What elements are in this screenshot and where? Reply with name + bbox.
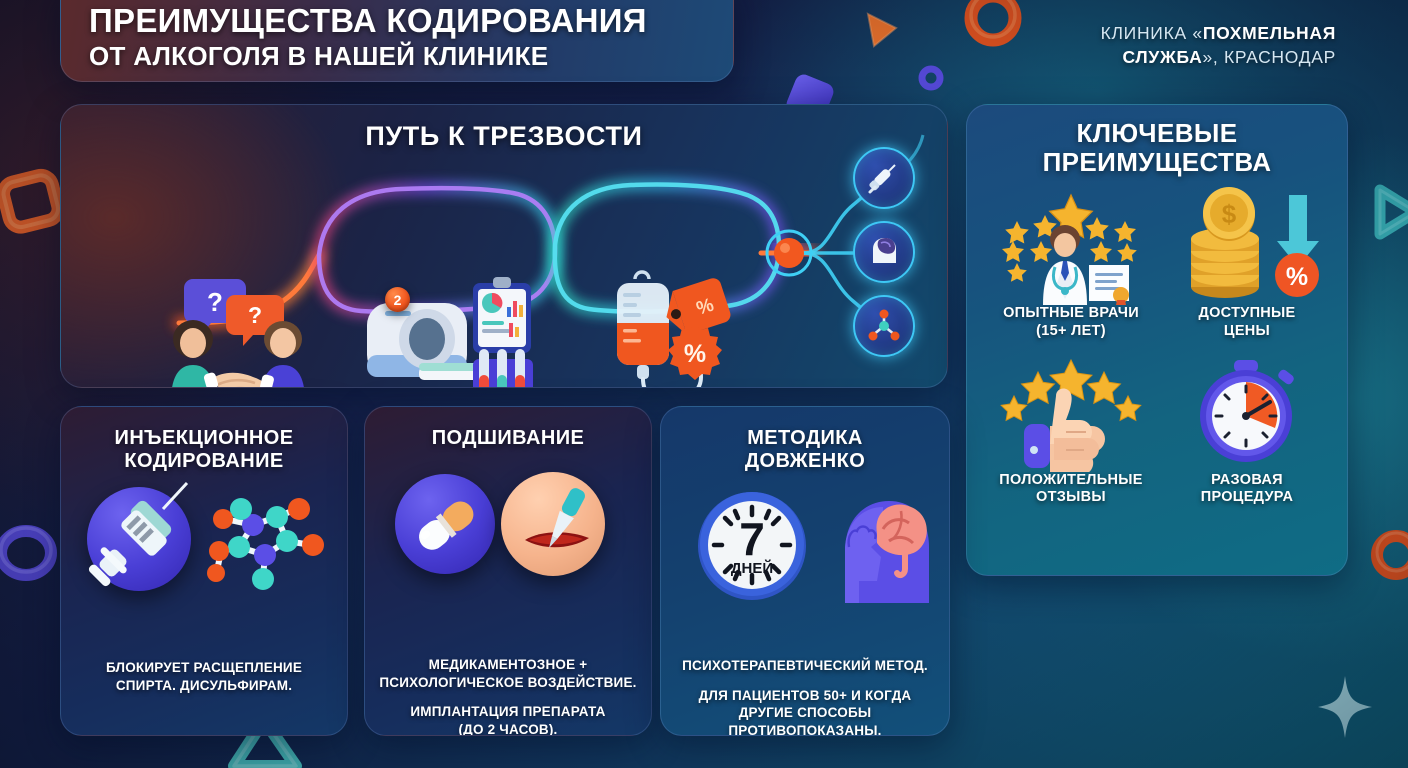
- key-advantages-title: КЛЮЧЕВЫЕ ПРЕИМУЩЕСТВА: [967, 105, 1347, 177]
- capsule-pill-icon: [409, 488, 485, 562]
- method-3-art: 7 ДНЕЙ: [661, 487, 949, 627]
- outcome-node-brain: [853, 221, 915, 283]
- method-card-implant: ПОДШИВАНИЕ: [364, 406, 652, 736]
- brain-head-icon: [865, 233, 903, 271]
- clock-7-days-icon: 7 ДНЕЙ: [693, 487, 811, 605]
- clinic-suffix: », КРАСНОДАР: [1202, 47, 1336, 67]
- doctor-stars-icon: [981, 187, 1161, 305]
- svg-text:%: %: [684, 340, 706, 368]
- advantage-reviews-label: ПОЛОЖИТЕЛЬНЫЕ ОТЗЫВЫ: [981, 472, 1161, 507]
- journey-card: ПУТЬ К ТРЕЗВОСТИ: [60, 104, 948, 388]
- method-2-body: МЕДИКАМЕНТОЗНОЕ + ПСИХОЛОГИЧЕСКОЕ ВОЗДЕЙ…: [365, 656, 651, 736]
- brain-head-icon: [819, 485, 935, 605]
- step-number-2-top: 2: [385, 287, 410, 312]
- stopwatch-icon: [1161, 354, 1333, 472]
- advantage-single-procedure-label: РАЗОВАЯ ПРОЦЕДУРА: [1161, 472, 1333, 507]
- syringe-icon: [865, 159, 903, 197]
- page-title-line1: ПРЕИМУЩЕСТВА КОДИРОВАНИЯ: [89, 4, 733, 39]
- coins-discount-icon: $ %: [1161, 187, 1333, 305]
- advantage-prices: $ % ДОСТУПНЫЕ ЦЕНЫ: [1161, 187, 1333, 340]
- svg-text:?: ?: [248, 302, 262, 328]
- method-2-art: [365, 474, 651, 614]
- clinic-prefix: КЛИНИКА «: [1101, 23, 1203, 43]
- advantage-single-procedure: РАЗОВАЯ ПРОЦЕДУРА: [1161, 354, 1333, 507]
- method-1-title: ИНЪЕКЦИОННОЕ КОДИРОВАНИЕ: [61, 407, 347, 473]
- svg-text:%: %: [1286, 263, 1308, 291]
- syringe-icon: [83, 477, 203, 601]
- iv-drip-icon: % %: [589, 267, 749, 388]
- method-2-title: ПОДШИВАНИЕ: [365, 407, 651, 450]
- clock-number: 7: [739, 513, 765, 565]
- clinic-name: КЛИНИКА «ПОХМЕЛЬНАЯ СЛУЖБА», КРАСНОДАР: [1036, 22, 1336, 69]
- key-advantages-card: КЛЮЧЕВЫЕ ПРЕИМУЩЕСТВА: [966, 104, 1348, 576]
- advantage-doctors: ОПЫТНЫЕ ВРАЧИ (15+ ЛЕТ): [981, 187, 1161, 340]
- svg-text:?: ?: [207, 287, 223, 317]
- method-3-title: МЕТОДИКА ДОВЖЕНКО: [661, 407, 949, 473]
- method-1-art: [61, 479, 347, 619]
- skin-implant-icon: [511, 478, 607, 574]
- advantage-doctors-label: ОПЫТНЫЕ ВРАЧИ (15+ ЛЕТ): [981, 305, 1161, 340]
- page-title-line2: ОТ АЛКОГОЛЯ В НАШЕЙ КЛИНИКЕ: [89, 42, 733, 71]
- svg-text:ДНЕЙ: ДНЕЙ: [731, 559, 773, 577]
- method-3-body: ПСИХОТЕРАПЕВТИЧЕСКИЙ МЕТОД. ДЛЯ ПАЦИЕНТО…: [661, 657, 949, 736]
- header-title-card: ПРЕИМУЩЕСТВА КОДИРОВАНИЯ ОТ АЛКОГОЛЯ В Н…: [60, 0, 734, 82]
- advantage-reviews: ПОЛОЖИТЕЛЬНЫЕ ОТЗЫВЫ: [981, 354, 1161, 507]
- svg-text:$: $: [1222, 199, 1237, 229]
- advantage-prices-label: ДОСТУПНЫЕ ЦЕНЫ: [1161, 305, 1333, 340]
- handshake-icon: ? ?: [157, 273, 323, 388]
- molecule-icon: [201, 489, 331, 599]
- method-1-body: БЛОКИРУЕТ РАСЩЕПЛЕНИЕ СПИРТА. ДИСУЛЬФИРА…: [61, 659, 347, 694]
- outcome-node-molecule: [853, 295, 915, 357]
- key-advantages-grid: ОПЫТНЫЕ ВРАЧИ (15+ ЛЕТ): [967, 177, 1347, 507]
- thumbs-up-stars-icon: [981, 354, 1161, 472]
- outcome-node-syringe: [853, 147, 915, 209]
- mri-scanner-icon: [361, 271, 541, 388]
- molecule-icon: [864, 306, 904, 346]
- method-card-injection: ИНЪЕКЦИОННОЕ КОДИРОВАНИЕ: [60, 406, 348, 736]
- method-card-dovzhenko: МЕТОДИКА ДОВЖЕНКО: [660, 406, 950, 736]
